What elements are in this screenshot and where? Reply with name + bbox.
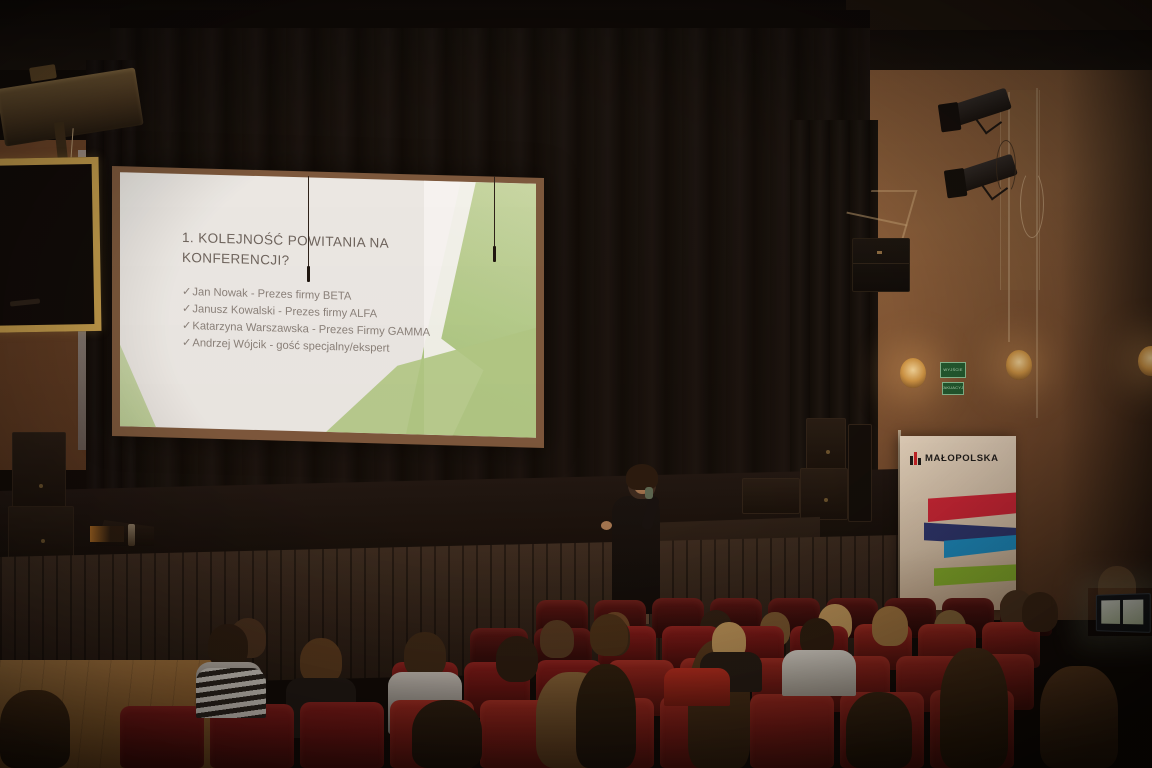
slide-title: 1. KOLEJNOŚĆ POWITANIA NA KONFERENCJI? xyxy=(182,228,444,274)
gold-picture-frame xyxy=(0,157,102,333)
malopolska-logo-mark-icon xyxy=(910,452,921,465)
pa-indicator-icon xyxy=(826,450,830,454)
pa-indicator-icon xyxy=(41,539,45,543)
slide-content: 1. KOLEJNOŚĆ POWITANIA NA KONFERENCJI? ✓… xyxy=(120,172,536,438)
spotlight-cable xyxy=(1020,170,1044,238)
pa-indicator-icon xyxy=(824,498,828,502)
audience-head xyxy=(540,620,574,658)
exit-sign-label: EWAKUACYJNE xyxy=(942,386,964,390)
banner-logo-text: MAŁOPOLSKA xyxy=(925,453,999,464)
seat xyxy=(300,702,384,768)
microphone-icon xyxy=(645,487,653,499)
laptop-screen xyxy=(1096,593,1151,633)
audience-head-foreground xyxy=(412,700,482,768)
auditorium-scene: 1. KOLEJNOŚĆ POWITANIA NA KONFERENCJI? ✓… xyxy=(0,0,1152,768)
cable-conduit xyxy=(1036,88,1038,418)
banner-zigzag-red xyxy=(928,492,1016,522)
audience-head xyxy=(1022,592,1058,632)
barn-door-icon xyxy=(938,102,962,133)
stage-case xyxy=(742,478,800,514)
audience-head-foreground xyxy=(940,648,1008,768)
audience-head-foreground xyxy=(846,692,912,768)
audience-body-striped xyxy=(196,668,266,718)
audience-head-foreground xyxy=(576,664,636,768)
wall-mounted-speaker xyxy=(852,238,910,292)
speaker-seam xyxy=(853,263,909,264)
water-bottle xyxy=(128,524,135,546)
pa-stack-right-column xyxy=(848,424,872,522)
check-icon: ✓ xyxy=(182,286,191,298)
barn-door-icon xyxy=(944,168,968,199)
seat xyxy=(120,706,204,768)
check-icon: ✓ xyxy=(182,337,191,349)
ceiling-right-soffit xyxy=(846,0,1152,30)
audience-body-red xyxy=(664,668,730,706)
pa-stack-right-top xyxy=(806,418,846,474)
projection-screen-frame: 1. KOLEJNOŚĆ POWITANIA NA KONFERENCJI? ✓… xyxy=(112,166,544,448)
presenter-hair xyxy=(626,464,658,490)
banner-logo: MAŁOPOLSKA xyxy=(910,452,999,465)
hanging-mic-cable xyxy=(494,176,495,248)
seat xyxy=(750,694,834,768)
list-item-label: Jan Nowak - Prezes firmy BETA xyxy=(192,286,351,302)
check-icon: ✓ xyxy=(182,303,191,315)
console-indicator-lights xyxy=(90,526,124,542)
audience-head xyxy=(496,636,538,682)
hanging-mic-cable xyxy=(308,176,309,268)
audience-head xyxy=(872,606,908,646)
laptop-window-right xyxy=(1123,600,1143,625)
malopolska-banner: MAŁOPOLSKA xyxy=(900,436,1016,610)
wall-sconce xyxy=(1006,350,1032,380)
banner-zigzag-green xyxy=(934,564,1016,586)
audience-head xyxy=(590,614,628,656)
audience-head-foreground xyxy=(0,690,70,768)
list-item-label: Janusz Kowalski - Prezes firmy ALFA xyxy=(192,303,377,320)
spotlight-cable xyxy=(996,140,1016,194)
check-icon: ✓ xyxy=(182,320,191,332)
exit-sign-secondary: EWAKUACYJNE xyxy=(942,382,964,395)
right-wall-shadow xyxy=(1060,0,1152,620)
laptop-window-left xyxy=(1101,600,1120,624)
wall-sconce xyxy=(900,358,926,388)
exit-sign: WYJŚCIE xyxy=(940,362,966,378)
audience-body-hoodie xyxy=(782,650,856,696)
speaker-led-icon xyxy=(877,251,882,254)
projection-screen: 1. KOLEJNOŚĆ POWITANIA NA KONFERENCJI? ✓… xyxy=(120,172,536,438)
pa-indicator-icon xyxy=(39,484,43,488)
pa-stack-right-sub xyxy=(800,468,848,520)
audience-head-foreground xyxy=(1040,666,1118,768)
presenter-hand xyxy=(601,521,612,530)
spotlight-rail xyxy=(1008,92,1010,342)
slide-bullet-list: ✓Jan Nowak - Prezes firmy BETA ✓Janusz K… xyxy=(182,284,502,361)
exit-sign-label: WYJŚCIE xyxy=(943,368,962,372)
list-item-label: Andrzej Wójcik - gość specjalny/ekspert xyxy=(192,337,389,355)
